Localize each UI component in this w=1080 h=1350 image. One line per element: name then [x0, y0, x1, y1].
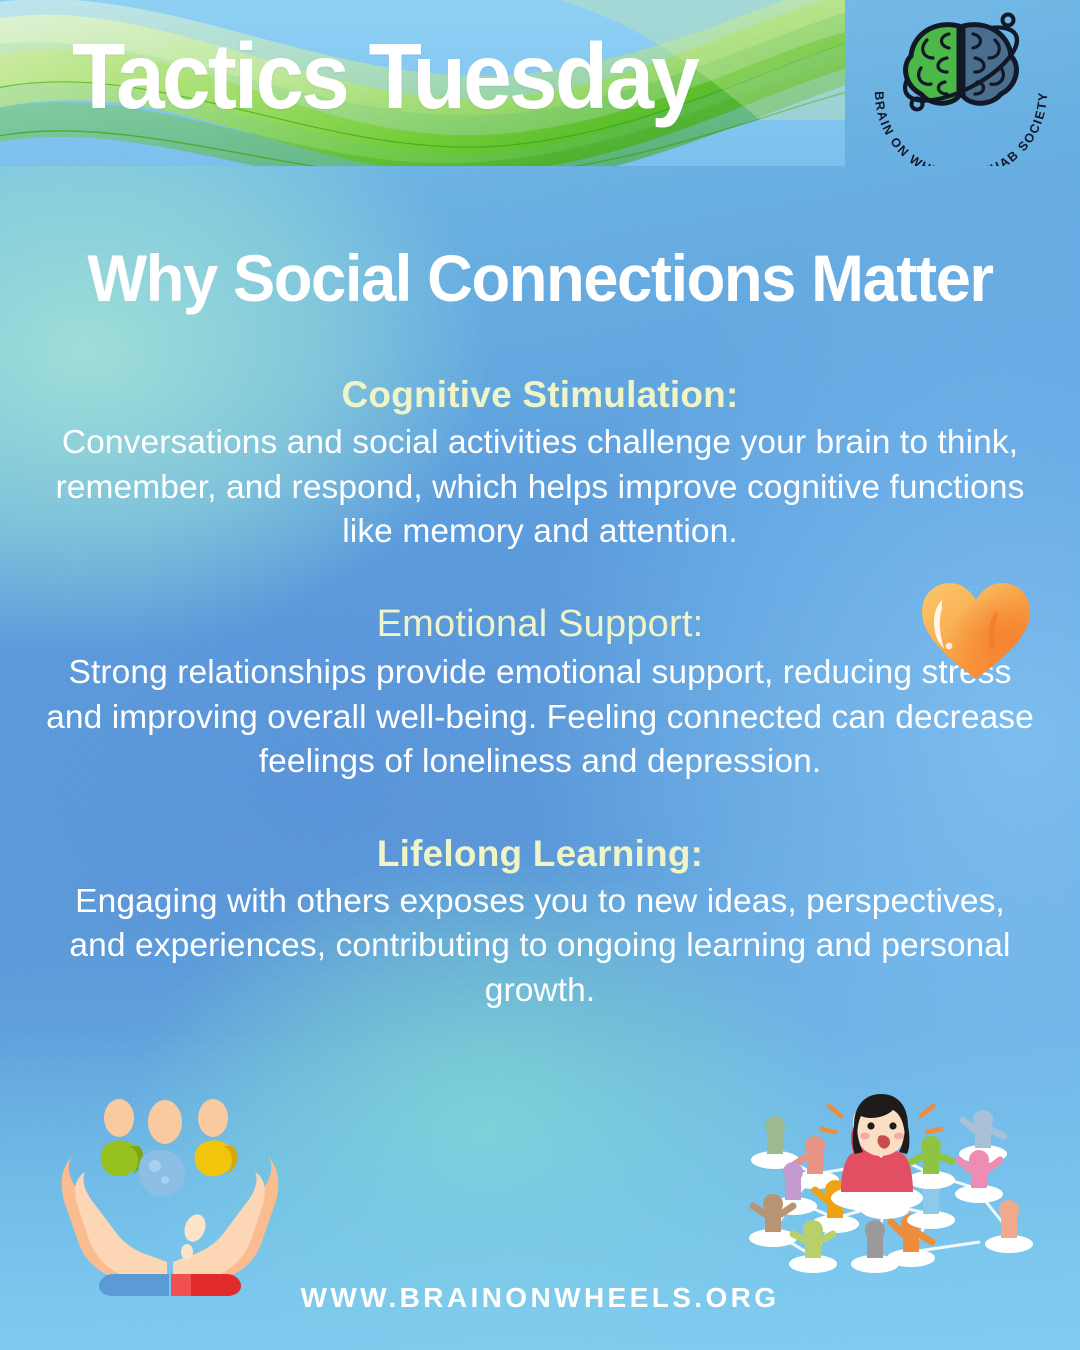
heart-icon — [918, 580, 1034, 684]
section-heading: Cognitive Stimulation: — [45, 372, 1035, 417]
section-body: Conversations and social activities chal… — [45, 421, 1035, 555]
network-figure — [751, 1116, 799, 1169]
section-heading: Emotional Support: — [45, 601, 1035, 647]
section-lifelong-learning: Lifelong Learning: Engaging with others … — [45, 831, 1035, 1014]
person-peach-center — [148, 1100, 182, 1144]
person-yellow — [195, 1099, 238, 1176]
network-figure — [907, 1136, 955, 1189]
social-network-illustration — [735, 1092, 1065, 1292]
section-emotional-support: Emotional Support: Strong relationships … — [45, 601, 1035, 785]
network-figure — [851, 1220, 899, 1273]
banner-title: Tactics Tuesday — [72, 30, 697, 123]
hands-holding-people-icon — [55, 1092, 285, 1297]
top-banner: Tactics Tuesday — [0, 0, 845, 166]
person-blue — [139, 1150, 186, 1197]
section-body: Strong relationships provide emotional s… — [45, 651, 1035, 785]
person-green — [101, 1099, 144, 1176]
section-cognitive-stimulation: Cognitive Stimulation: Conversations and… — [45, 372, 1035, 555]
poster-canvas: Tactics Tuesday — [0, 0, 1080, 1350]
section-body: Engaging with others exposes you to new … — [45, 880, 1035, 1014]
brain-on-wheels-logo: BRAIN ON WHEELS REHAB SOCIETY — [856, 6, 1066, 166]
logo-ring-text: BRAIN ON WHEELS REHAB SOCIETY — [872, 91, 1050, 166]
website-url: WWW.BRAINONWHEELS.ORG — [0, 1282, 1080, 1314]
section-heading: Lifelong Learning: — [45, 831, 1035, 876]
page-title: Why Social Connections Matter — [22, 245, 1059, 311]
content-sections: Cognitive Stimulation: Conversations and… — [45, 372, 1035, 1014]
